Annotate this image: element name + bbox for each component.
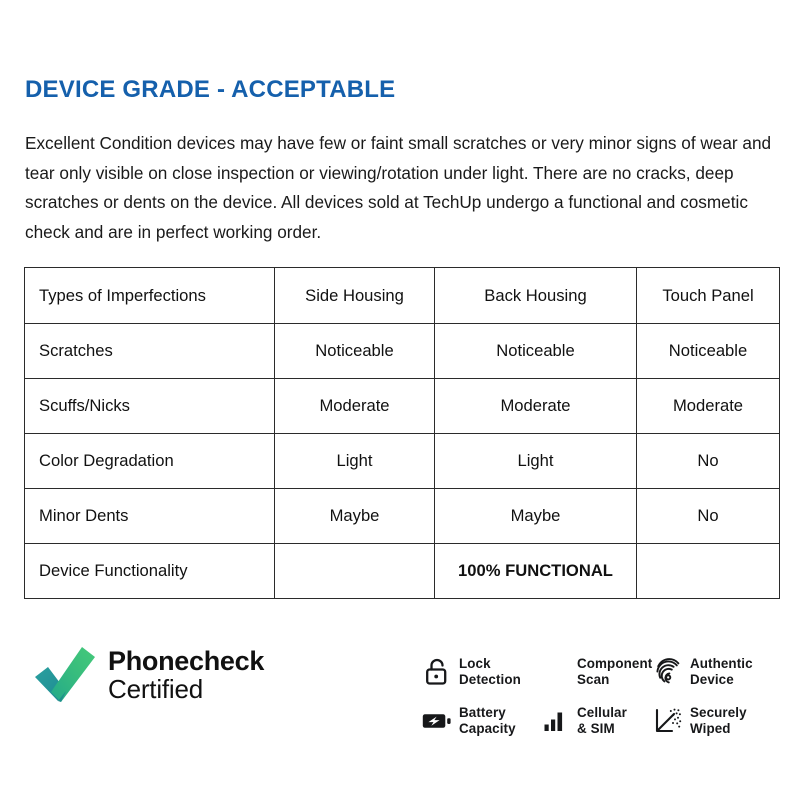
- badge-label: Battery Capacity: [459, 705, 516, 736]
- badge-label: Securely Wiped: [690, 705, 747, 736]
- lock-icon: [422, 657, 452, 687]
- signal-bars-icon: [540, 706, 570, 736]
- badge-lock-detection: Lock Detection: [422, 656, 521, 687]
- badge-authentic-device: Authentic Device: [653, 656, 753, 687]
- phonecheck-certified-logo: Phonecheck Certified: [34, 645, 264, 705]
- row-label-functionality: Device Functionality: [25, 544, 275, 599]
- footer: Phonecheck Certified Lock Detection: [0, 627, 800, 757]
- badge-cellular-sim: Cellular & SIM: [540, 705, 627, 736]
- cell-scratches-back: Noticeable: [435, 324, 637, 379]
- logo-line-2: Certified: [108, 676, 264, 704]
- fingerprint-icon: [653, 657, 683, 687]
- cell-color-back: Light: [435, 434, 637, 489]
- badge-battery-capacity: Battery Capacity: [422, 705, 516, 736]
- cell-dents-touch: No: [637, 489, 780, 544]
- badge-securely-wiped: Securely Wiped: [653, 705, 747, 736]
- battery-icon: [422, 706, 452, 736]
- cell-color-side: Light: [275, 434, 435, 489]
- column-header-side: Side Housing: [275, 268, 435, 324]
- row-label-dents: Minor Dents: [25, 489, 275, 544]
- cell-scratches-touch: Noticeable: [637, 324, 780, 379]
- cell-scuffs-touch: Moderate: [637, 379, 780, 434]
- table-row: Device Functionality 100% FUNCTIONAL: [25, 544, 780, 599]
- checkmark-icon: [34, 645, 96, 705]
- row-label-scuffs: Scuffs/Nicks: [25, 379, 275, 434]
- device-grade-card: DEVICE GRADE - ACCEPTABLE Excellent Cond…: [0, 0, 800, 800]
- grade-description: Excellent Condition devices may have few…: [25, 129, 777, 247]
- cell-scuffs-back: Moderate: [435, 379, 637, 434]
- table-row: Scratches Noticeable Noticeable Noticeab…: [25, 324, 780, 379]
- column-header-types: Types of Imperfections: [25, 268, 275, 324]
- row-label-scratches: Scratches: [25, 324, 275, 379]
- badge-label: Component Scan: [577, 656, 652, 687]
- column-header-touch: Touch Panel: [637, 268, 780, 324]
- cell-dents-side: Maybe: [275, 489, 435, 544]
- status-badge-functional: 100% FUNCTIONAL: [435, 544, 637, 599]
- cell-color-touch: No: [637, 434, 780, 489]
- table-header-row: Types of Imperfections Side Housing Back…: [25, 268, 780, 324]
- cell-functionality-touch: [637, 544, 780, 599]
- badge-label: Cellular & SIM: [577, 705, 627, 736]
- cell-scratches-side: Noticeable: [275, 324, 435, 379]
- badge-component-scan: Component Scan: [540, 656, 652, 687]
- logo-line-1: Phonecheck: [108, 647, 264, 676]
- table-row: Scuffs/Nicks Moderate Moderate Moderate: [25, 379, 780, 434]
- imperfections-table: Types of Imperfections Side Housing Back…: [24, 267, 780, 599]
- column-header-back: Back Housing: [435, 268, 637, 324]
- cell-dents-back: Maybe: [435, 489, 637, 544]
- logo-wordmark: Phonecheck Certified: [108, 647, 264, 703]
- page-title: DEVICE GRADE - ACCEPTABLE: [25, 76, 395, 104]
- badge-label: Authentic Device: [690, 656, 753, 687]
- row-label-color: Color Degradation: [25, 434, 275, 489]
- badge-label: Lock Detection: [459, 656, 521, 687]
- table-row: Color Degradation Light Light No: [25, 434, 780, 489]
- securely-wiped-icon: [653, 706, 683, 736]
- cell-scuffs-side: Moderate: [275, 379, 435, 434]
- table-row: Minor Dents Maybe Maybe No: [25, 489, 780, 544]
- certification-badges: Lock Detection Component Scan: [420, 637, 790, 747]
- cell-functionality-side: [275, 544, 435, 599]
